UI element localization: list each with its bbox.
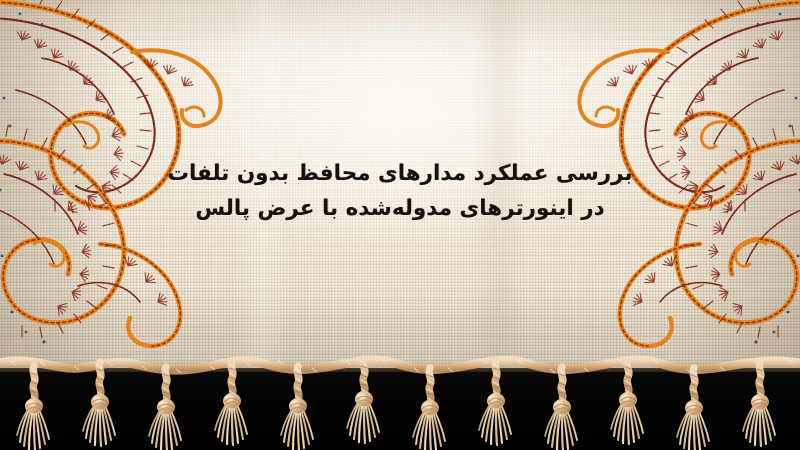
black-background-band <box>0 368 800 450</box>
linen-fabric-background <box>0 0 800 392</box>
title-card-slide: بررسی عملکرد مدارهای محافظ بدون تلفات در… <box>0 0 800 450</box>
